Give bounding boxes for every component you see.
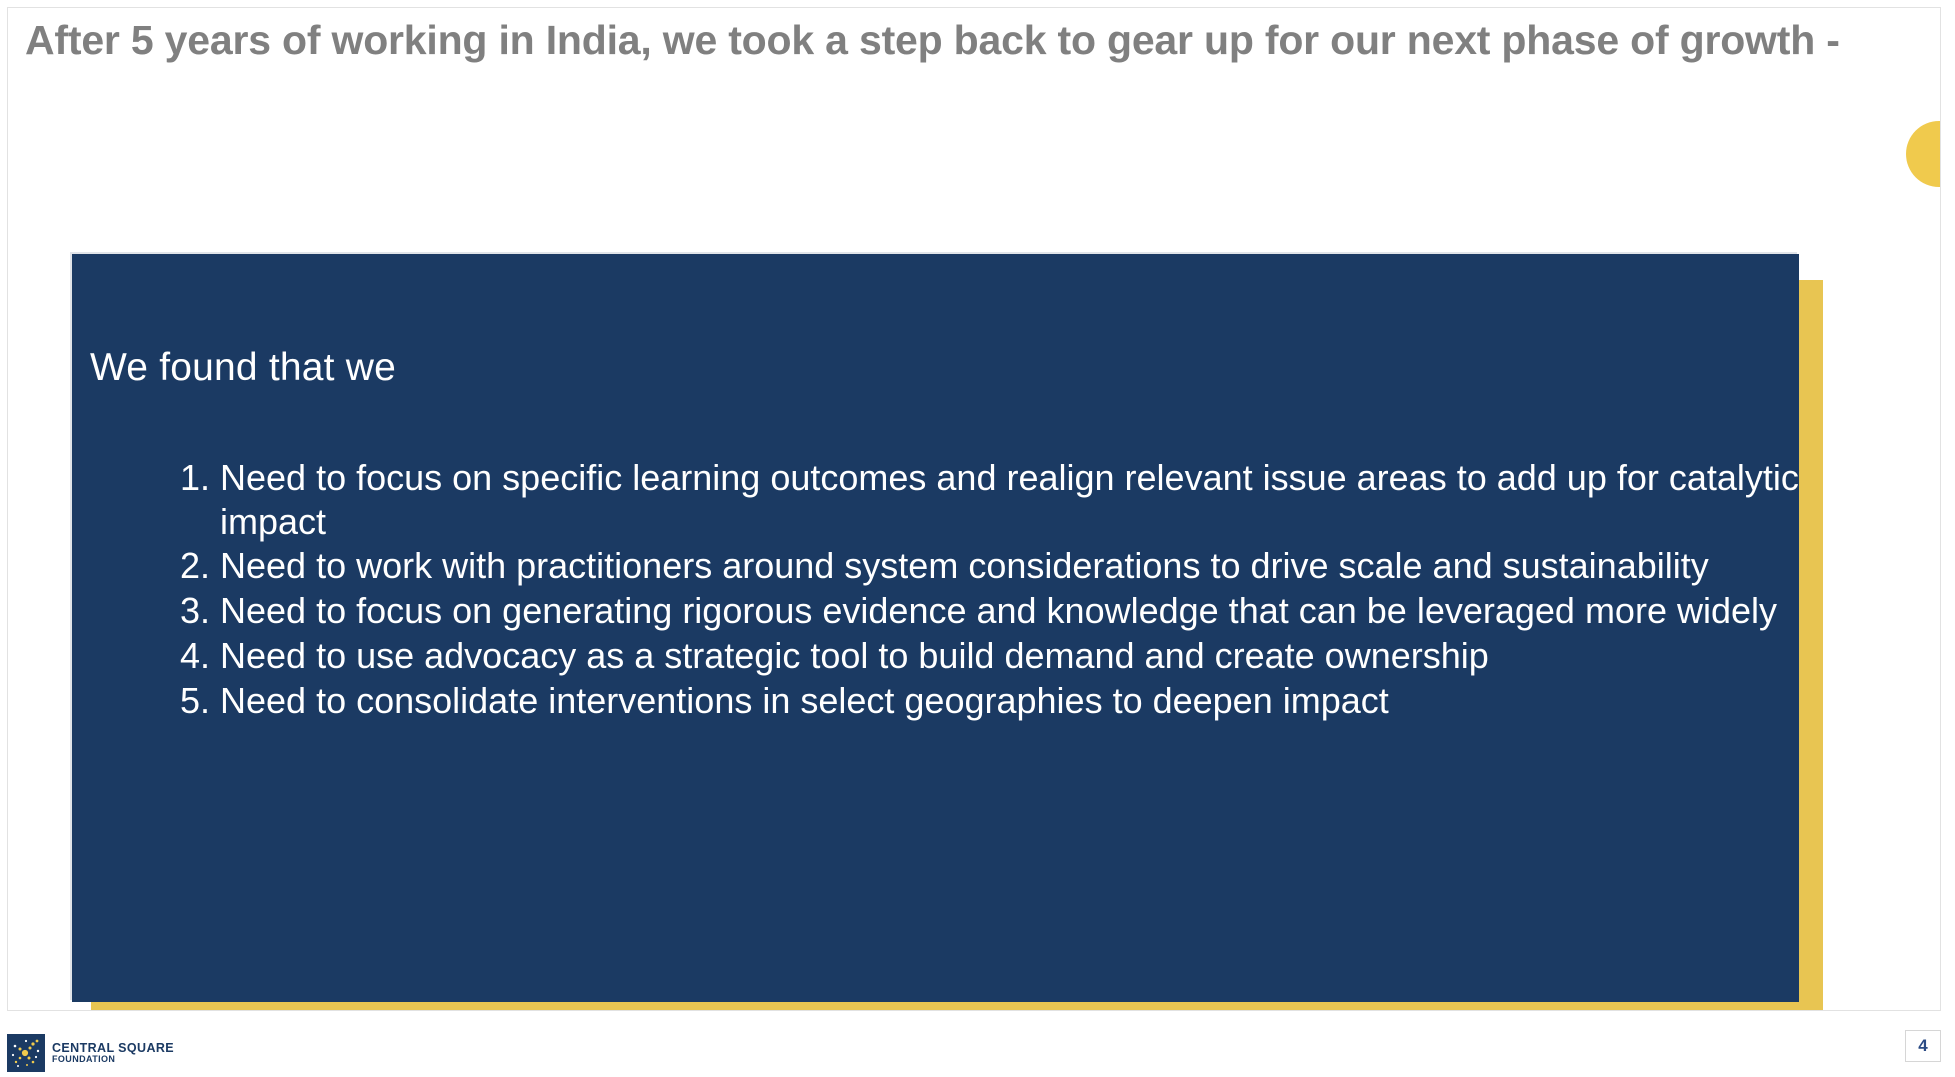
list-item-text: Need to focus on generating rigorous evi… [220, 589, 1799, 633]
list-item: 4. Need to use advocacy as a strategic t… [168, 634, 1799, 678]
list-item-text: Need to work with practitioners around s… [220, 544, 1799, 588]
slide-footer: CENTRAL SQUARE FOUNDATION 4 [0, 1012, 1955, 1077]
list-item-marker: 2. [168, 544, 210, 588]
starburst-logo-icon [7, 1034, 45, 1072]
list-item-marker: 5. [168, 679, 210, 723]
list-item-marker: 1. [168, 456, 210, 500]
list-item: 2. Need to work with practitioners aroun… [168, 544, 1799, 588]
list-item: 3. Need to focus on generating rigorous … [168, 589, 1799, 633]
list-item: 1. Need to focus on specific learning ou… [168, 456, 1799, 543]
list-item-text: Need to use advocacy as a strategic tool… [220, 634, 1799, 678]
page-number: 4 [1905, 1030, 1941, 1062]
slide-canvas: After 5 years of working in India, we to… [7, 7, 1941, 1011]
list-item-marker: 4. [168, 634, 210, 678]
list-item-text: Need to consolidate interventions in sel… [220, 679, 1799, 723]
brand-logo: CENTRAL SQUARE FOUNDATION [7, 1034, 174, 1072]
logo-name-line-1: CENTRAL SQUARE [52, 1042, 174, 1055]
card-heading: We found that we [90, 346, 396, 390]
list-item-text: Need to focus on specific learning outco… [220, 456, 1799, 543]
logo-wordmark: CENTRAL SQUARE FOUNDATION [52, 1042, 174, 1064]
content-card: We found that we 1. Need to focus on spe… [72, 254, 1799, 1002]
logo-name-line-2: FOUNDATION [52, 1055, 174, 1064]
slide-viewport: After 5 years of working in India, we to… [0, 0, 1955, 1077]
page-title: After 5 years of working in India, we to… [25, 16, 1875, 64]
list-item: 5. Need to consolidate interventions in … [168, 679, 1799, 723]
accent-circle-decoration [1906, 121, 1941, 187]
list-item-marker: 3. [168, 589, 210, 633]
findings-list: 1. Need to focus on specific learning ou… [100, 456, 1799, 723]
